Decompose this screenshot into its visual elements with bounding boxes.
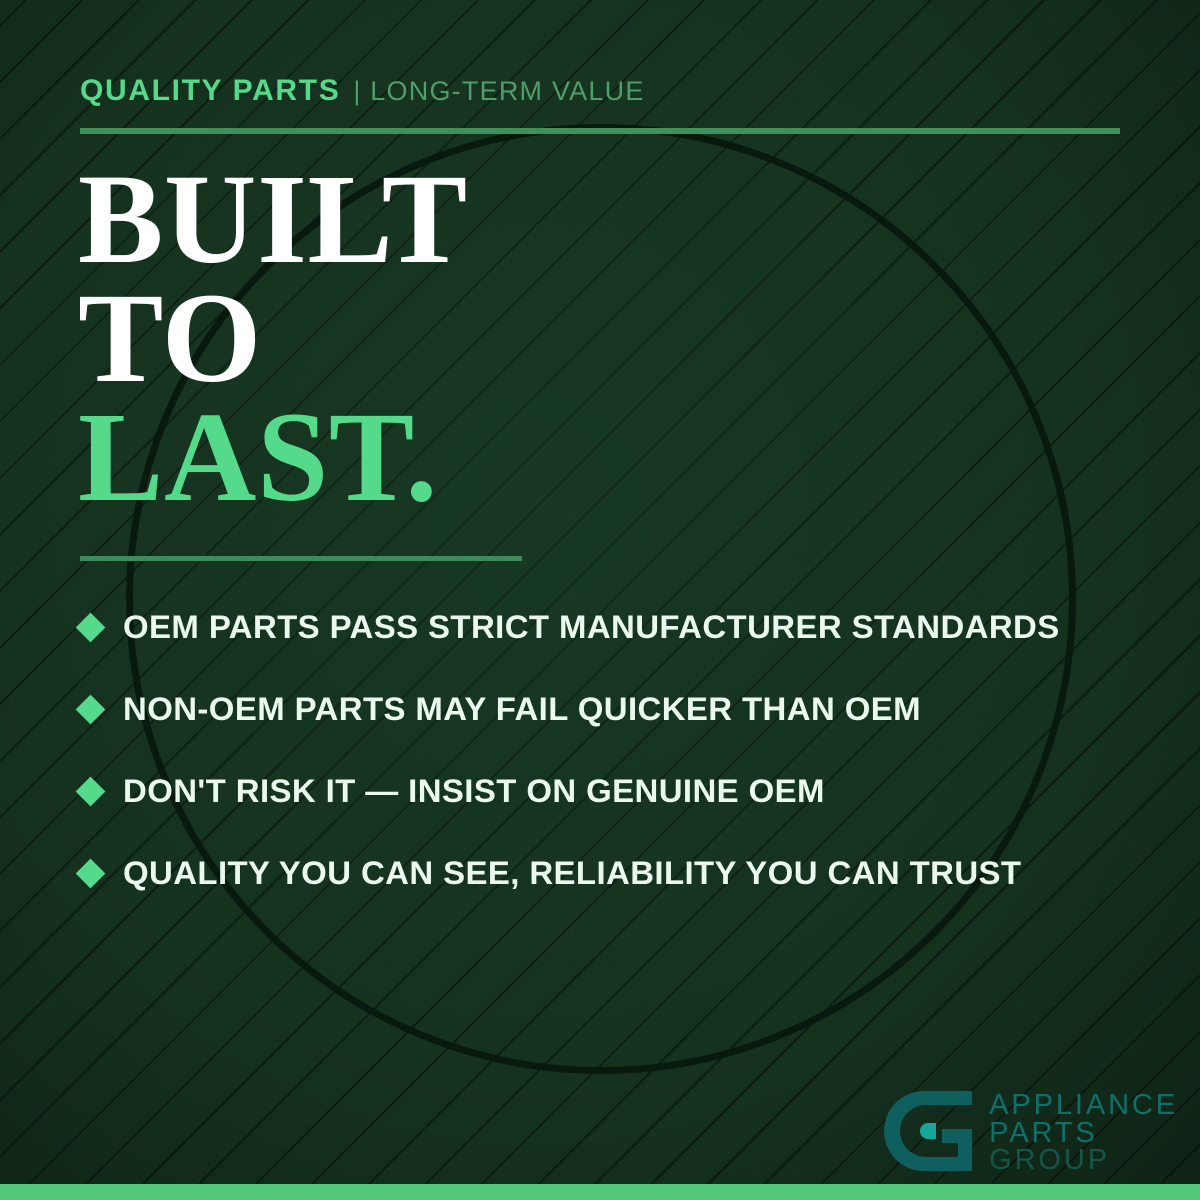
eyebrow-primary-label: QUALITY PARTS xyxy=(80,74,340,108)
headline-divider-rule xyxy=(80,556,522,561)
diamond-bullet-icon xyxy=(76,612,106,642)
headline-line-1: BUILT xyxy=(78,160,468,279)
brand-logo: APPLIANCE PARTS GROUP xyxy=(884,1085,1178,1182)
list-item-label: QUALITY YOU CAN SEE, RELIABILITY YOU CAN… xyxy=(123,855,1021,892)
list-item: NON-OEM PARTS MAY FAIL QUICKER THAN OEM xyxy=(80,668,1150,750)
list-item-label: NON-OEM PARTS MAY FAIL QUICKER THAN OEM xyxy=(123,691,921,728)
letter-g-logomark-icon xyxy=(884,1085,980,1182)
eyebrow-secondary-label: | LONG-TERM VALUE xyxy=(353,76,644,107)
diamond-bullet-icon xyxy=(76,858,106,888)
brand-logo-line-1: APPLIANCE xyxy=(989,1092,1178,1120)
benefits-list: OEM PARTS PASS STRICT MANUFACTURER STAND… xyxy=(80,586,1150,914)
list-item: QUALITY YOU CAN SEE, RELIABILITY YOU CAN… xyxy=(80,832,1150,914)
brand-logo-line-2: PARTS xyxy=(989,1120,1178,1148)
eyebrow-heading: QUALITY PARTS | LONG-TERM VALUE xyxy=(80,74,645,108)
bottom-accent-bar xyxy=(0,1184,1200,1200)
promo-poster: QUALITY PARTS | LONG-TERM VALUE BUILT TO… xyxy=(0,0,1200,1200)
header-divider-rule xyxy=(80,128,1120,134)
list-item: OEM PARTS PASS STRICT MANUFACTURER STAND… xyxy=(80,586,1150,668)
diamond-bullet-icon xyxy=(76,776,106,806)
page-title: BUILT TO LAST. xyxy=(78,160,468,517)
brand-logo-wordmark: APPLIANCE PARTS GROUP xyxy=(989,1092,1178,1175)
headline-line-3: LAST. xyxy=(78,398,468,517)
list-item-label: OEM PARTS PASS STRICT MANUFACTURER STAND… xyxy=(123,609,1060,646)
list-item: DON'T RISK IT — INSIST ON GENUINE OEM xyxy=(80,750,1150,832)
brand-logo-line-3: GROUP xyxy=(989,1147,1178,1175)
diamond-bullet-icon xyxy=(76,694,106,724)
list-item-label: DON'T RISK IT — INSIST ON GENUINE OEM xyxy=(123,773,825,810)
headline-line-2: TO xyxy=(78,279,468,398)
